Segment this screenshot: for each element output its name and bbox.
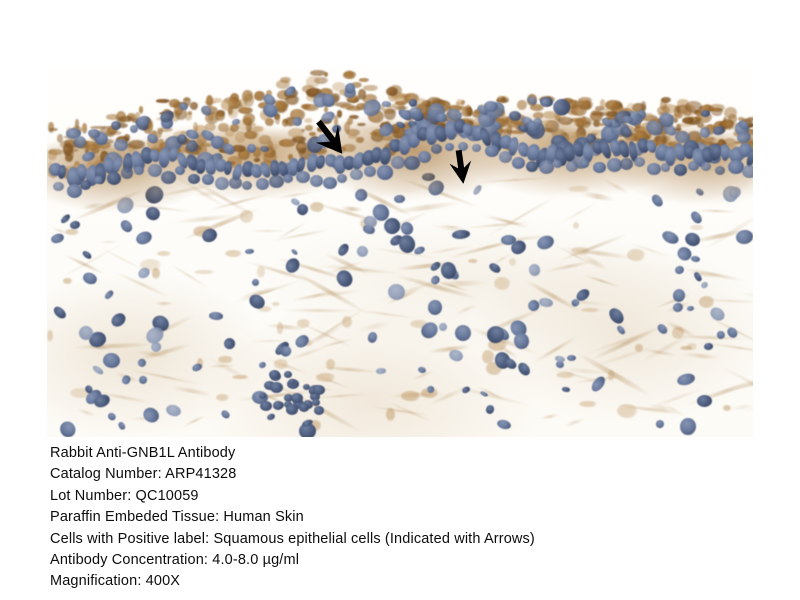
caption-line-magnification: Magnification: 400X xyxy=(50,571,770,592)
caption-line-tissue: Paraffin Embeded Tissue: Human Skin xyxy=(50,507,770,528)
annotation-arrow-icon-2 xyxy=(445,148,477,186)
caption-line-positive-cells: Cells with Positive label: Squamous epit… xyxy=(50,529,770,550)
ihc-micrograph-figure xyxy=(47,67,753,437)
page-root: Rabbit Anti-GNB1L Antibody Catalog Numbe… xyxy=(0,0,800,600)
caption-line-antibody-concentration: Antibody Concentration: 4.0-8.0 µg/ml xyxy=(50,550,770,571)
micrograph-canvas xyxy=(47,67,753,437)
caption-line-lot-number: Lot Number: QC10059 xyxy=(50,486,770,507)
caption-line-catalog-number: Catalog Number: ARP41328 xyxy=(50,464,770,485)
figure-caption: Rabbit Anti-GNB1L Antibody Catalog Numbe… xyxy=(50,443,770,593)
caption-line-antibody: Rabbit Anti-GNB1L Antibody xyxy=(50,443,770,464)
